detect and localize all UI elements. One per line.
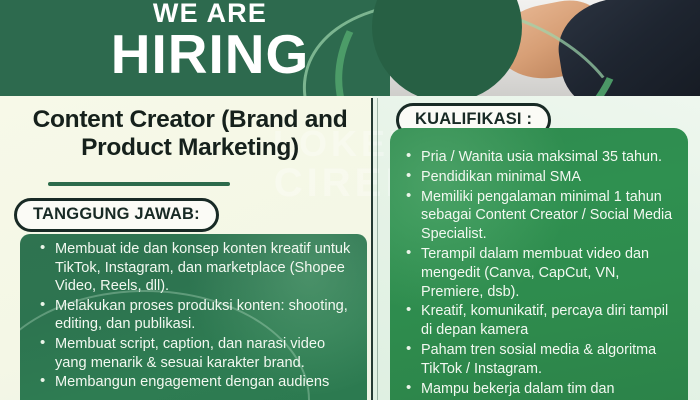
responsibilities-panel: Membuat ide dan konsep konten kreatif un… <box>20 234 367 400</box>
qualification-item: Paham tren sosial media & algoritma TikT… <box>404 341 676 379</box>
qualification-item: Pria / Wanita usia maksimal 35 tahun. <box>404 148 676 167</box>
responsibility-item: Membuat ide dan konsep konten kreatif un… <box>38 240 354 296</box>
header-band: WE ARE HIRING <box>0 0 700 96</box>
column-divider <box>371 98 373 400</box>
responsibilities-heading-pill: TANGGUNG JAWAB: <box>14 198 219 232</box>
job-title: Content Creator (Brand and Product Marke… <box>14 106 366 162</box>
responsibility-item: Membuat script, caption, dan narasi vide… <box>38 335 354 372</box>
qualification-item: Memiliki pengalaman minimal 1 tahun seba… <box>404 188 676 244</box>
title-underline <box>48 182 230 186</box>
column-divider-secondary <box>377 98 378 400</box>
qualification-item: Mampu bekerja dalam tim dan mengejar dea… <box>404 380 676 400</box>
qualification-item: Pendidikan minimal SMA <box>404 168 676 187</box>
qualification-item: Kreatif, komunikatif, percaya diri tampi… <box>404 302 676 340</box>
responsibility-item: Membangun engagement dengan audiens <box>38 373 354 392</box>
qualification-item: Terampil dalam membuat video dan mengedi… <box>404 245 676 301</box>
responsibility-item: Melakukan proses produksi konten: shooti… <box>38 297 354 334</box>
responsibilities-list: Membuat ide dan konsep konten kreatif un… <box>38 240 354 393</box>
hiring-poster: WE ARE HIRING LOKER CIREB Content Creato… <box>0 0 700 400</box>
qualifications-list: Pria / Wanita usia maksimal 35 tahun.Pen… <box>404 148 676 400</box>
header-line-hiring: HIRING <box>0 22 420 86</box>
qualifications-panel: Pria / Wanita usia maksimal 35 tahun.Pen… <box>390 128 688 400</box>
